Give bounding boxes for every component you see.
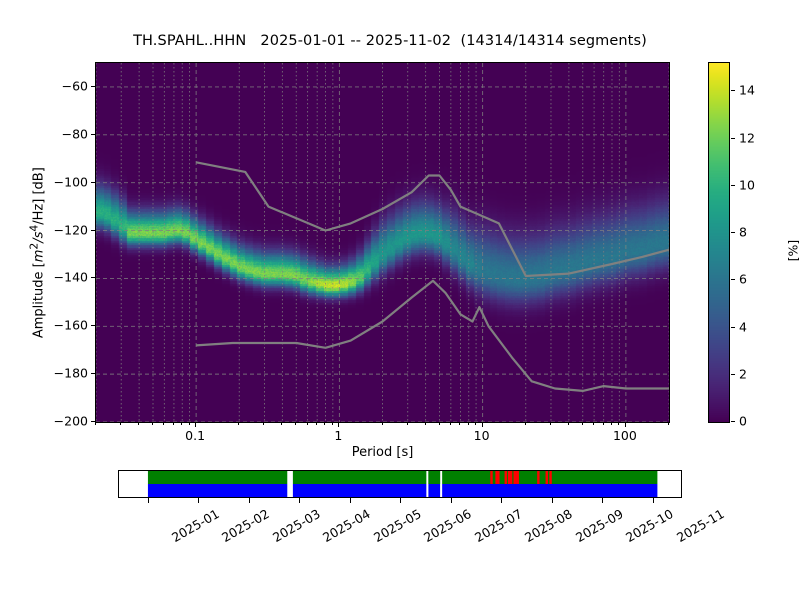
x-tick-mark-minor [603, 423, 604, 425]
timeline-tick-mark [198, 498, 199, 503]
y-tick-label: −60 [62, 78, 88, 93]
timeline-flagged-mark [490, 471, 492, 484]
x-tick-label: 1 [334, 428, 342, 443]
y-tick-mark [91, 230, 95, 231]
colorbar-tick-label: 10 [739, 177, 755, 192]
colorbar-tick-mark [731, 374, 735, 375]
y-axis-label: Amplitude [m2/s4/Hz] [dB] [27, 83, 46, 423]
x-tick-mark-minor [450, 423, 451, 425]
timeline-tick-label: 2025-11 [674, 506, 727, 545]
axes-overlay [96, 63, 669, 422]
y-tick-mark [91, 373, 95, 374]
colorbar-tick-label: 2 [739, 366, 747, 381]
x-tick-mark-minor [189, 423, 190, 425]
colorbar-tick-label: 12 [739, 130, 755, 145]
timeline-tick-mark [602, 498, 603, 503]
x-axis-label: Period [s] [95, 445, 670, 460]
x-tick-mark-minor [138, 423, 139, 425]
timeline-tick-mark [653, 498, 654, 503]
x-tick-mark-minor [611, 423, 612, 425]
x-tick-mark-minor [181, 423, 182, 425]
data-coverage-timeline[interactable] [118, 470, 682, 498]
x-tick-mark-minor [407, 423, 408, 425]
x-tick-mark-minor [468, 423, 469, 425]
y-axis-label-sup2: 4 [27, 225, 40, 232]
timeline-gap [426, 471, 428, 497]
timeline-tick-label: 2025-10 [623, 506, 676, 545]
timeline-tick-label: 2025-07 [472, 506, 525, 545]
colorbar[interactable] [708, 62, 730, 423]
colorbar-tick-label: 4 [739, 319, 747, 334]
y-tick-label: −200 [54, 414, 88, 429]
y-tick-label: −160 [54, 318, 88, 333]
colorbar-tick-label: 14 [739, 83, 755, 98]
timeline-tick-label: 2025-05 [371, 506, 424, 545]
x-tick-mark-minor [295, 423, 296, 425]
timeline-tick-mark [501, 498, 502, 503]
x-tick-mark-major [338, 423, 339, 427]
y-tick-mark [91, 325, 95, 326]
ppsd-figure: TH.SPAHL..HHN 2025-01-01 -- 2025-11-02 (… [0, 0, 800, 600]
y-axis-label-mid: /s [32, 232, 47, 243]
timeline-tick-label: 2025-01 [169, 506, 222, 545]
x-tick-mark-minor [425, 423, 426, 425]
timeline-gap [287, 471, 293, 497]
colorbar-tick-mark [731, 279, 735, 280]
x-tick-mark-minor [459, 423, 460, 425]
colorbar-tick-mark [731, 421, 735, 422]
x-tick-mark-minor [475, 423, 476, 425]
timeline-flagged-mark [537, 471, 539, 484]
x-tick-label: 10 [474, 428, 490, 443]
timeline-gap [440, 471, 442, 497]
x-tick-mark-minor [324, 423, 325, 425]
colorbar-tick-mark [731, 232, 735, 233]
timeline-tick-mark [350, 498, 351, 503]
colorbar-tick-mark [731, 138, 735, 139]
timeline-tick-mark [451, 498, 452, 503]
timeline-tick-mark [299, 498, 300, 503]
x-tick-mark-major [625, 423, 626, 427]
x-tick-mark-minor [173, 423, 174, 425]
plot-title: TH.SPAHL..HHN 2025-01-01 -- 2025-11-02 (… [0, 33, 780, 49]
timeline-data-band [148, 471, 657, 484]
colorbar-tick-mark [731, 185, 735, 186]
y-tick-label: −120 [54, 222, 88, 237]
y-tick-label: −100 [54, 174, 88, 189]
timeline-tick-mark [552, 498, 553, 503]
colorbar-tick-mark [731, 327, 735, 328]
timeline-bars [119, 471, 681, 497]
gridlines [96, 63, 669, 422]
timeline-flagged-mark [546, 471, 548, 484]
timeline-tick-label: 2025-04 [320, 506, 373, 545]
high-noise-model-line [196, 162, 669, 276]
x-tick-label: 100 [613, 428, 637, 443]
y-tick-mark [91, 421, 95, 422]
x-tick-mark-minor [618, 423, 619, 425]
timeline-flagged-mark [505, 471, 507, 484]
x-tick-mark-minor [238, 423, 239, 425]
timeline-flagged-mark [510, 471, 512, 484]
timeline-flagged-mark [549, 471, 551, 484]
x-tick-mark-minor [316, 423, 317, 425]
y-axis-label-prefix: Amplitude [ [32, 262, 47, 338]
timeline-tick-mark [400, 498, 401, 503]
x-tick-mark-minor [95, 423, 96, 425]
timeline-tick-label: 2025-06 [421, 506, 474, 545]
colorbar-tick-label: 8 [739, 225, 747, 240]
y-tick-mark [91, 134, 95, 135]
x-tick-mark-major [195, 423, 196, 427]
y-axis-label-sup1: 2 [27, 243, 40, 250]
timeline-tick-mark [148, 498, 149, 503]
colorbar-tick-mark [731, 90, 735, 91]
colorbar-tick-label: 0 [739, 414, 747, 429]
x-tick-mark-minor [593, 423, 594, 425]
x-tick-mark-minor [525, 423, 526, 425]
timeline-coverage-band [148, 484, 657, 497]
x-tick-mark-minor [382, 423, 383, 425]
timeline-tick-label: 2025-09 [573, 506, 626, 545]
x-tick-mark-minor [550, 423, 551, 425]
x-tick-mark-minor [582, 423, 583, 425]
x-tick-mark-minor [668, 423, 669, 425]
x-tick-mark-minor [152, 423, 153, 425]
colorbar-label: [%] [786, 191, 800, 311]
x-tick-mark-minor [120, 423, 121, 425]
x-tick-mark-minor [163, 423, 164, 425]
timeline-tick-label: 2025-02 [219, 506, 272, 545]
timeline-tick-mark [249, 498, 250, 503]
x-tick-label: 0.1 [185, 428, 205, 443]
y-tick-label: −180 [54, 366, 88, 381]
y-tick-mark [91, 277, 95, 278]
x-tick-mark-minor [307, 423, 308, 425]
timeline-flagged-mark [497, 471, 499, 484]
x-tick-mark-minor [439, 423, 440, 425]
timeline-tick-label: 2025-03 [270, 506, 323, 545]
x-tick-mark-minor [332, 423, 333, 425]
x-tick-mark-minor [263, 423, 264, 425]
x-tick-mark-major [482, 423, 483, 427]
y-tick-mark [91, 86, 95, 87]
y-tick-label: −80 [62, 126, 88, 141]
y-tick-mark [91, 182, 95, 183]
timeline-data-band [428, 471, 440, 484]
y-tick-label: −140 [54, 270, 88, 285]
timeline-tick-label: 2025-08 [522, 506, 575, 545]
x-tick-mark-minor [568, 423, 569, 425]
colorbar-tick-label: 6 [739, 272, 747, 287]
colorbar-gradient [709, 63, 729, 422]
x-tick-mark-minor [281, 423, 282, 425]
y-axis-label-suffix: /Hz] [dB] [32, 167, 47, 225]
ppsd-axes[interactable] [95, 62, 670, 423]
y-axis-label-italic: m [32, 250, 47, 263]
timeline-flagged-mark [517, 471, 519, 484]
